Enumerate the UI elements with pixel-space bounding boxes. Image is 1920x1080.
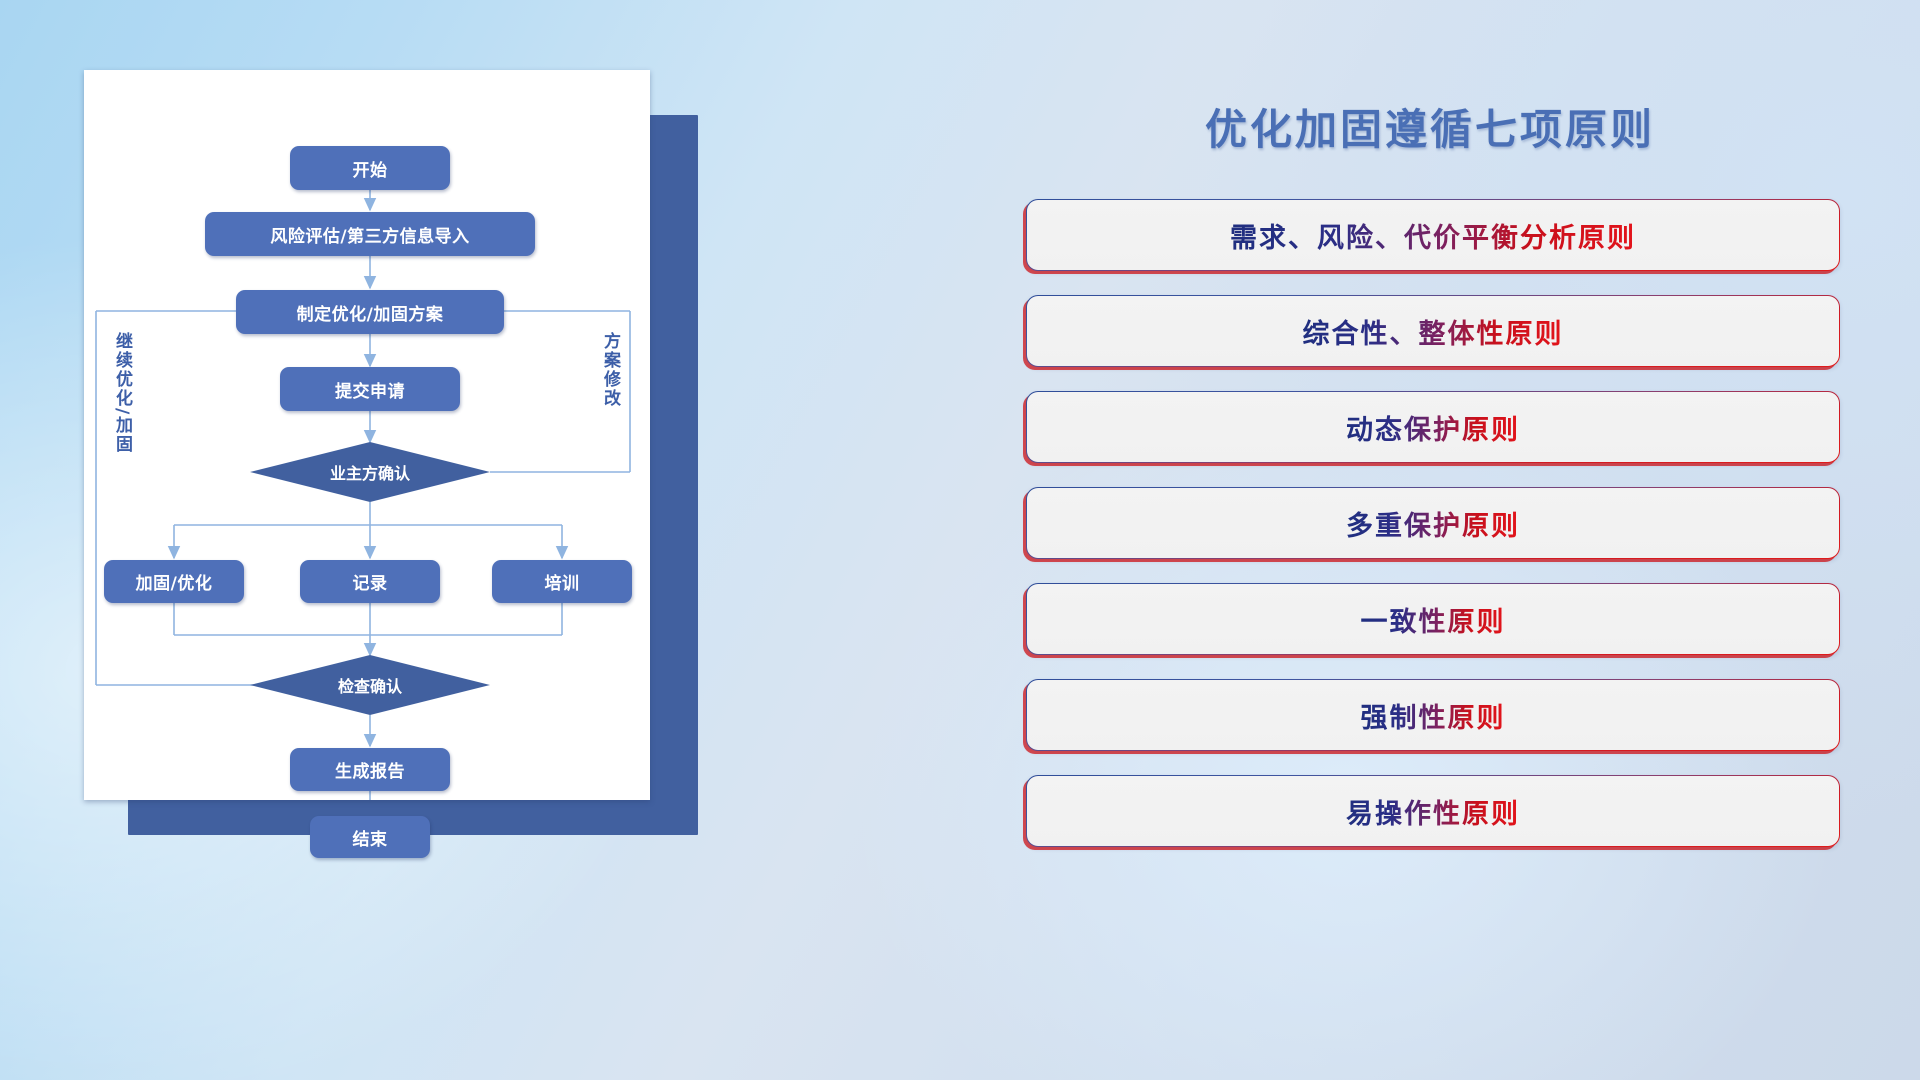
principle-card-7-label: 易操作性原则: [1346, 792, 1520, 831]
flow-node-record[interactable]: 记录: [300, 560, 440, 603]
principle-card-5[interactable]: 一致性原则: [1026, 583, 1840, 655]
principle-card-5-label: 一致性原则: [1361, 600, 1506, 639]
flow-edge-label-plan-revision: 方案修改: [598, 332, 623, 408]
principle-card-3[interactable]: 动态保护原则: [1026, 391, 1840, 463]
flow-node-plan-label: 制定优化/加固方案: [297, 300, 444, 325]
flow-node-record-label: 记录: [353, 569, 388, 594]
principle-card-2[interactable]: 综合性、整体性原则: [1026, 295, 1840, 367]
page-title: 优化加固遵循七项原则: [1020, 96, 1840, 157]
flowchart-canvas: 开始 风险评估/第三方信息导入 制定优化/加固方案 提交申请 业主方确认 加固/…: [84, 70, 650, 800]
flow-node-owner-confirm-label: 业主方确认: [250, 442, 490, 502]
flow-node-owner-confirm[interactable]: 业主方确认: [250, 442, 490, 502]
principle-card-4-label: 多重保护原则: [1346, 504, 1520, 543]
flow-node-start-label: 开始: [353, 156, 388, 181]
principle-card-6[interactable]: 强制性原则: [1026, 679, 1840, 751]
flow-node-reinforce[interactable]: 加固/优化: [104, 560, 244, 603]
flowchart-card: 开始 风险评估/第三方信息导入 制定优化/加固方案 提交申请 业主方确认 加固/…: [84, 70, 650, 800]
flow-node-submit[interactable]: 提交申请: [280, 367, 460, 411]
flow-node-end[interactable]: 结束: [310, 816, 430, 858]
flow-node-report-label: 生成报告: [335, 757, 405, 782]
principle-card-6-label: 强制性原则: [1361, 696, 1506, 735]
flow-node-plan[interactable]: 制定优化/加固方案: [236, 290, 504, 334]
flow-node-check-confirm[interactable]: 检查确认: [250, 655, 490, 715]
flow-node-training-label: 培训: [545, 569, 580, 594]
principle-card-1[interactable]: 需求、风险、代价平衡分析原则: [1026, 199, 1840, 271]
flow-node-report[interactable]: 生成报告: [290, 748, 450, 791]
flowchart-region: 开始 风险评估/第三方信息导入 制定优化/加固方案 提交申请 业主方确认 加固/…: [84, 70, 684, 820]
principle-card-7[interactable]: 易操作性原则: [1026, 775, 1840, 847]
principles-list: 需求、风险、代价平衡分析原则 综合性、整体性原则 动态保护原则 多重保护原则 一…: [1020, 199, 1840, 847]
flow-node-training[interactable]: 培训: [492, 560, 632, 603]
principle-card-4[interactable]: 多重保护原则: [1026, 487, 1840, 559]
flow-node-check-confirm-label: 检查确认: [250, 655, 490, 715]
principle-card-2-label: 综合性、整体性原则: [1303, 312, 1564, 351]
flow-node-end-label: 结束: [353, 825, 388, 850]
principle-card-3-label: 动态保护原则: [1346, 408, 1520, 447]
flow-node-start[interactable]: 开始: [290, 146, 450, 190]
flow-node-risk-assessment[interactable]: 风险评估/第三方信息导入: [205, 212, 535, 256]
flow-node-submit-label: 提交申请: [335, 377, 405, 402]
principles-panel: 优化加固遵循七项原则 需求、风险、代价平衡分析原则 综合性、整体性原则 动态保护…: [1020, 96, 1840, 847]
flow-edge-label-continue-optimize: 继续优化/加固: [110, 332, 135, 454]
flow-node-risk-assessment-label: 风险评估/第三方信息导入: [270, 222, 469, 247]
flow-node-reinforce-label: 加固/优化: [136, 569, 213, 594]
principle-card-1-label: 需求、风险、代价平衡分析原则: [1230, 216, 1636, 255]
